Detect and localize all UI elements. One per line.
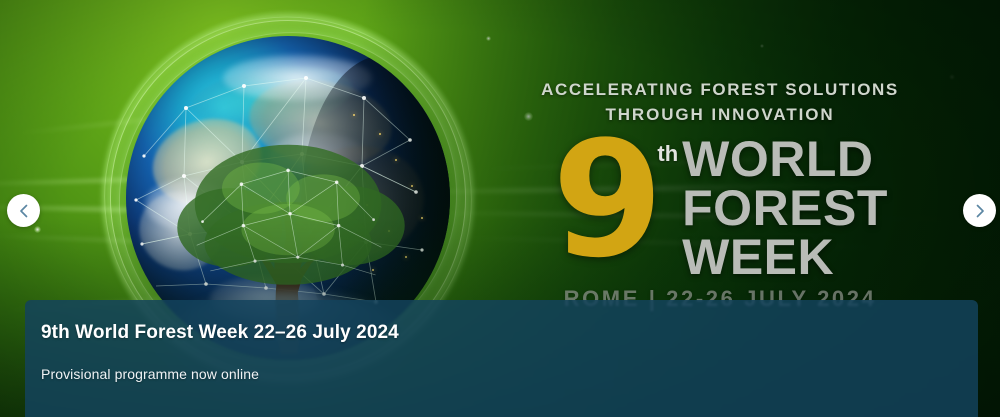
event-logo-block: ACCELERATING FOREST SOLUTIONS THROUGH IN… [520, 78, 920, 312]
chevron-left-icon [18, 204, 30, 218]
event-title-line-3: WEEK [682, 233, 888, 282]
edition-ordinal: th [657, 141, 678, 167]
event-title: WORLD FOREST WEEK [682, 135, 888, 282]
chevron-right-icon [974, 204, 986, 218]
hero-carousel: ACCELERATING FOREST SOLUTIONS THROUGH IN… [0, 0, 1000, 417]
edition-number: 9 [552, 133, 663, 267]
tagline-line-1: ACCELERATING FOREST SOLUTIONS [520, 78, 920, 103]
caption-subtitle: Provisional programme now online [41, 366, 978, 382]
carousel-caption[interactable]: 9th World Forest Week 22–26 July 2024 Pr… [25, 300, 978, 417]
caption-title: 9th World Forest Week 22–26 July 2024 [41, 322, 978, 344]
carousel-next-button[interactable] [963, 194, 996, 227]
event-title-line-1: WORLD [682, 135, 888, 184]
event-wordmark: 9 th WORLD FOREST WEEK [520, 137, 920, 282]
carousel-prev-button[interactable] [7, 194, 40, 227]
event-title-line-2: FOREST [682, 184, 888, 233]
